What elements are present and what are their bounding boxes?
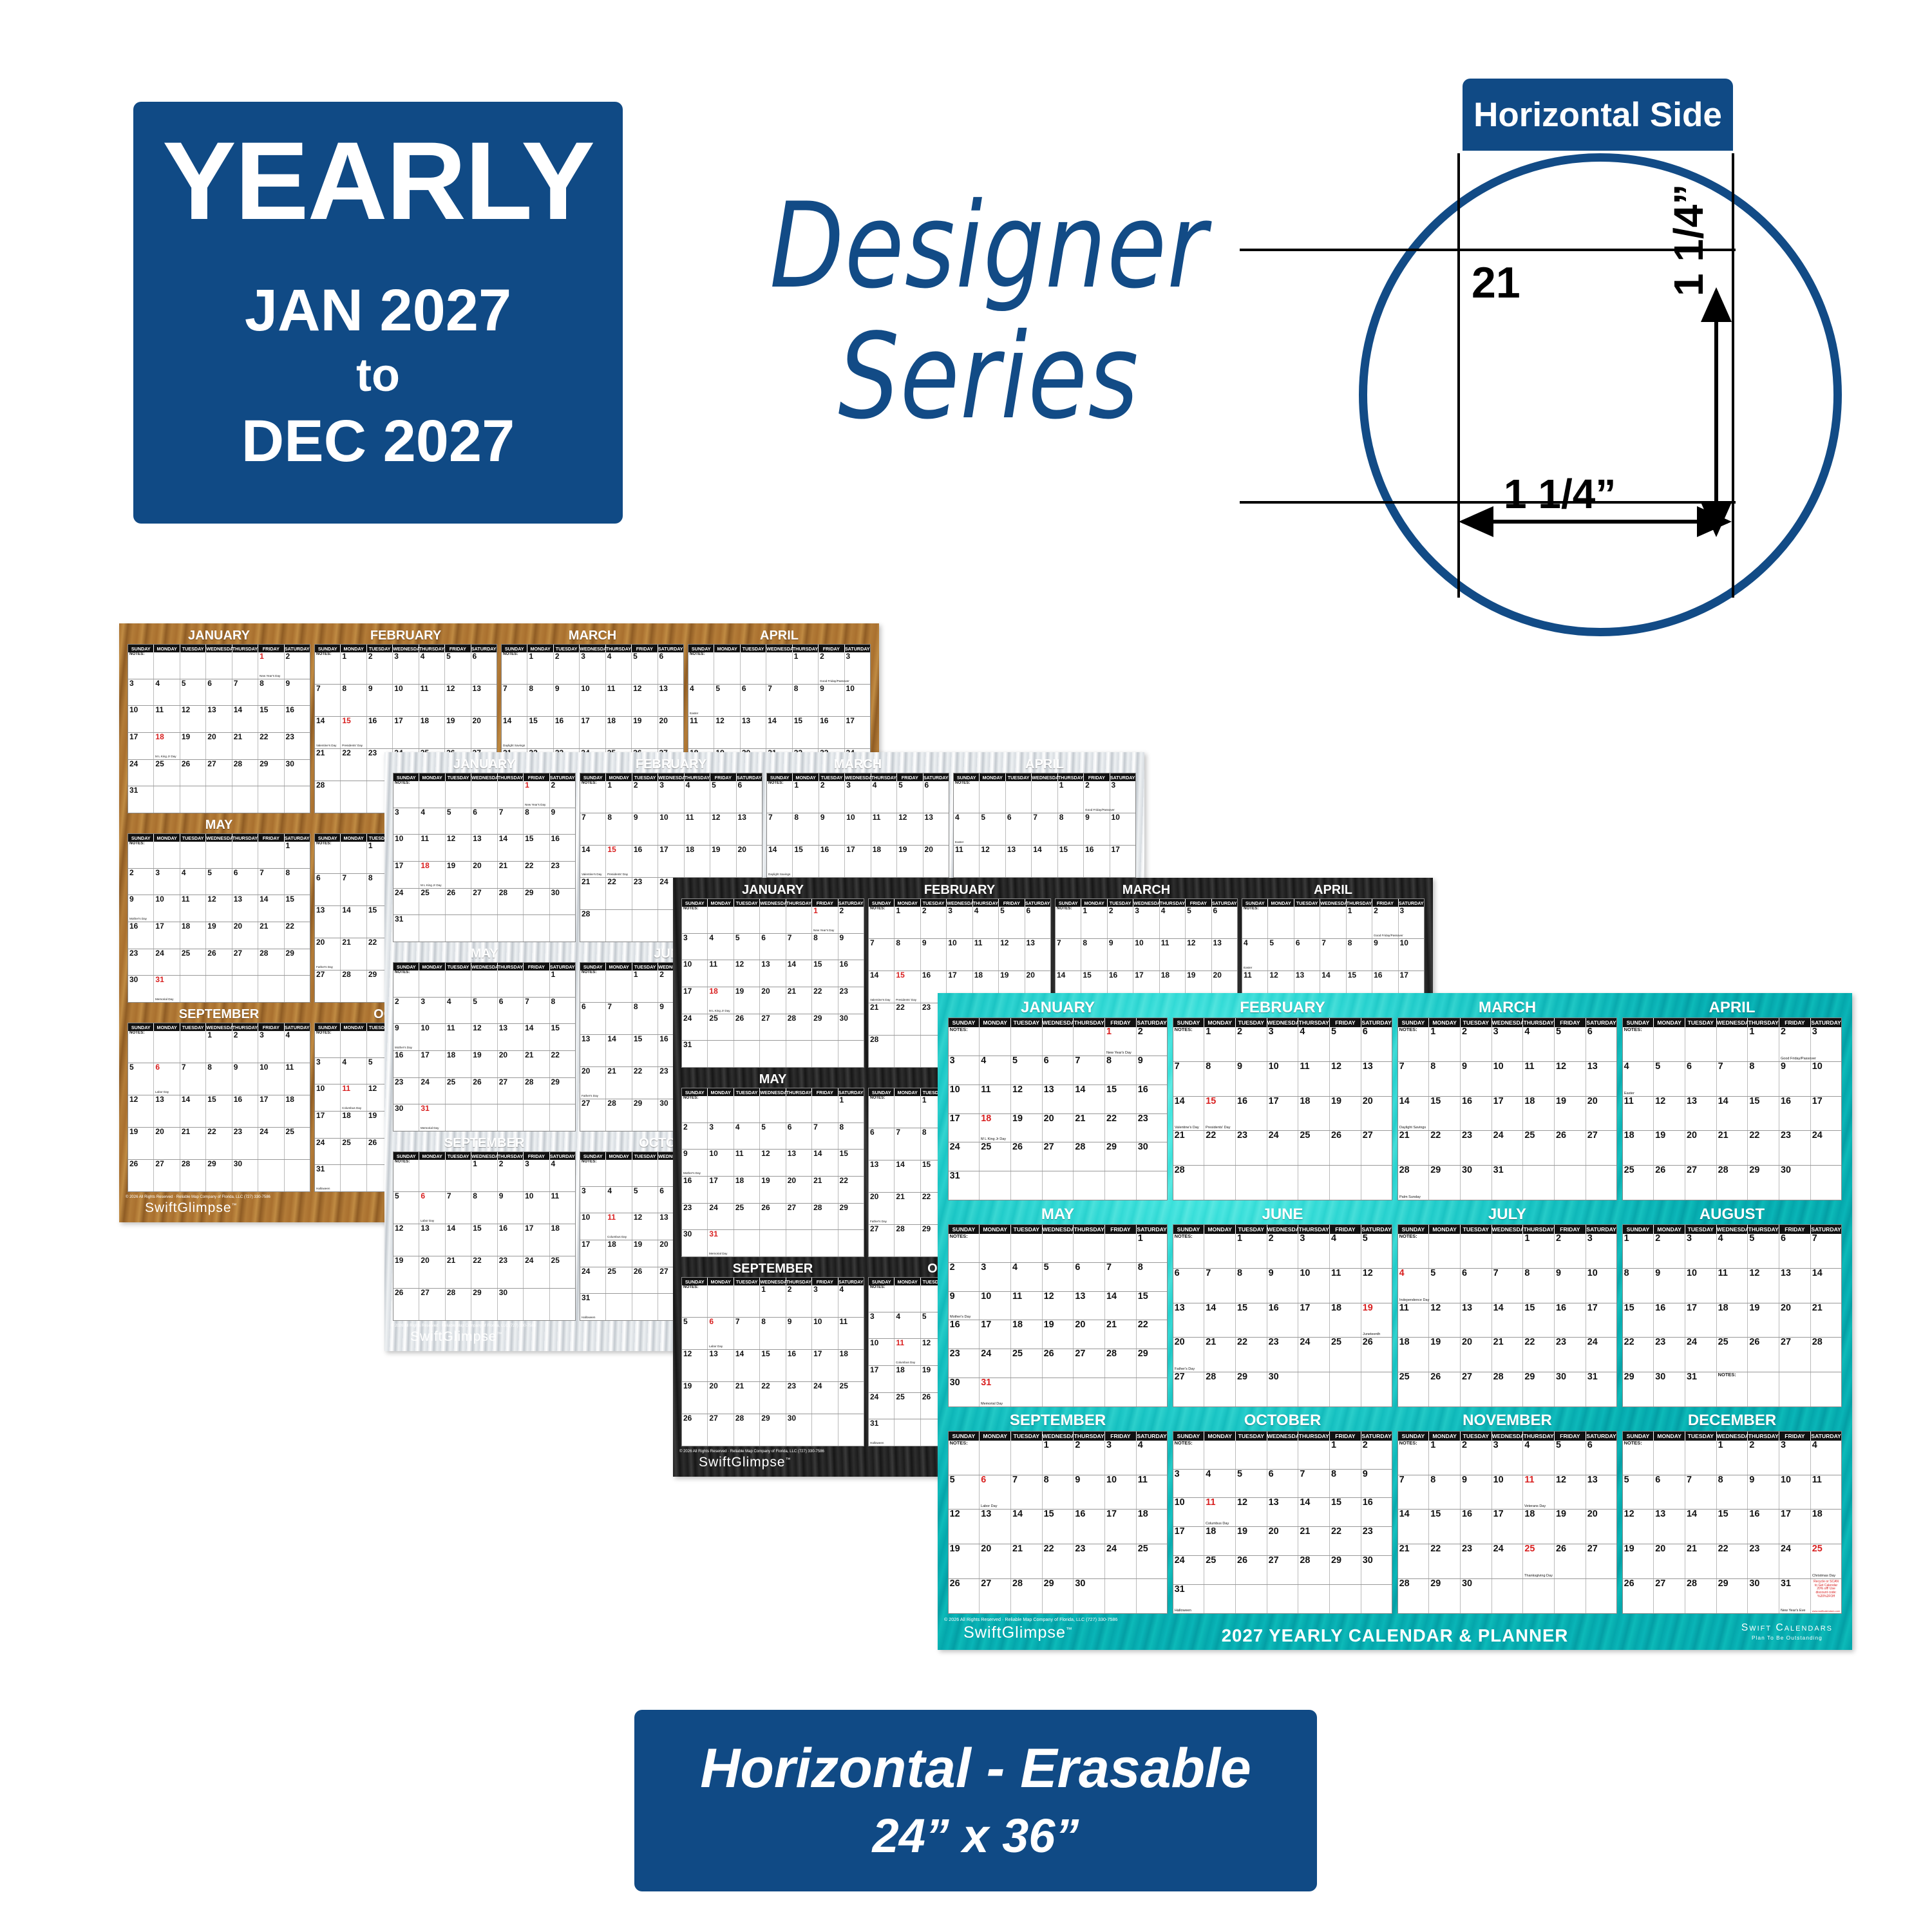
empty-cell[interactable]	[1586, 1579, 1617, 1613]
day-cell[interactable]: 21	[895, 1193, 920, 1224]
day-cell[interactable]: 30	[1137, 1142, 1168, 1171]
day-cell[interactable]: 8	[285, 869, 310, 895]
day-cell[interactable]: 18	[1137, 1510, 1168, 1544]
day-cell[interactable]: 18	[1623, 1131, 1654, 1165]
day-cell[interactable]: 18	[1011, 1320, 1043, 1349]
day-cell[interactable]: 14	[524, 1024, 549, 1050]
empty-cell[interactable]	[895, 1285, 920, 1312]
empty-cell[interactable]	[1267, 1166, 1299, 1200]
day-cell[interactable]: 8	[550, 998, 575, 1024]
day-cell[interactable]: 11	[973, 939, 999, 971]
empty-cell[interactable]	[741, 652, 766, 684]
day-cell[interactable]: 9	[367, 685, 393, 716]
day-cell[interactable]: 16	[1074, 1510, 1105, 1544]
empty-cell[interactable]	[632, 1294, 658, 1320]
day-cell[interactable]: 6	[206, 679, 232, 706]
day-cell[interactable]: 5	[471, 998, 497, 1024]
empty-cell[interactable]	[232, 786, 258, 813]
day-cell[interactable]: 21	[258, 922, 284, 949]
day-cell[interactable]: 26	[682, 1414, 708, 1446]
day-cell[interactable]: 12	[1186, 939, 1211, 971]
day-cell[interactable]: 24	[1492, 1131, 1524, 1165]
empty-cell[interactable]	[1461, 1234, 1492, 1268]
empty-cell[interactable]	[285, 786, 310, 813]
day-cell[interactable]: 25	[980, 1142, 1011, 1171]
day-cell[interactable]: 21	[869, 1003, 895, 1035]
day-cell[interactable]: 26	[180, 760, 206, 786]
day-cell[interactable]: 14Valentine's Day	[1173, 1097, 1205, 1131]
empty-cell[interactable]	[766, 652, 792, 684]
empty-cell[interactable]: NOTES:	[315, 1031, 341, 1057]
day-cell[interactable]: 3	[1811, 1027, 1842, 1061]
day-cell[interactable]: 4	[1330, 1234, 1361, 1268]
day-cell[interactable]: 30	[682, 1230, 708, 1256]
empty-cell[interactable]: NOTES:	[1173, 1234, 1205, 1268]
day-cell[interactable]: 9	[786, 1318, 812, 1349]
day-cell[interactable]: 23	[1461, 1544, 1492, 1578]
day-cell[interactable]: 15	[838, 1150, 864, 1176]
day-cell[interactable]: 18	[419, 717, 445, 748]
empty-cell[interactable]: NOTES:	[1623, 1441, 1654, 1475]
day-cell[interactable]: 23	[550, 862, 575, 888]
day-cell[interactable]: 28	[606, 1099, 632, 1131]
day-cell[interactable]: 12	[632, 685, 658, 716]
empty-cell[interactable]	[1011, 1171, 1043, 1200]
day-cell[interactable]: 1	[1236, 1234, 1267, 1268]
day-cell[interactable]: 21	[446, 1256, 471, 1288]
empty-cell[interactable]: NOTES:	[128, 1031, 154, 1063]
day-cell[interactable]: 15	[793, 717, 819, 748]
empty-cell[interactable]	[1492, 1579, 1524, 1613]
day-cell[interactable]: 19	[446, 862, 471, 888]
day-cell[interactable]: 22	[341, 749, 366, 781]
day-cell[interactable]: 20	[471, 862, 497, 888]
day-cell[interactable]: 11	[688, 717, 714, 748]
month-block-july[interactable]: JULYSUNDAYMONDAYTUESDAYWEDNESDAYTHURSDAY…	[1397, 1205, 1618, 1407]
day-cell[interactable]: 5	[980, 813, 1005, 845]
day-cell[interactable]: 19	[1011, 1114, 1043, 1142]
day-cell[interactable]: 3	[1110, 781, 1135, 813]
month-block-may[interactable]: MAYSUNDAYMONDAYTUESDAYWEDNESDAYTHURSDAYF…	[128, 817, 310, 1003]
day-cell[interactable]: 6	[1025, 907, 1050, 938]
day-cell[interactable]: 30	[285, 760, 310, 786]
month-block-may[interactable]: MAYSUNDAYMONDAYTUESDAYWEDNESDAYTHURSDAYF…	[948, 1205, 1168, 1407]
day-cell[interactable]: 11	[180, 895, 206, 922]
day-cell[interactable]: 30	[1461, 1579, 1492, 1613]
day-cell[interactable]: 1	[1623, 1234, 1654, 1268]
empty-cell[interactable]	[471, 1104, 497, 1131]
day-cell[interactable]: 1	[1523, 1234, 1555, 1268]
empty-cell[interactable]	[1043, 1171, 1074, 1200]
day-cell[interactable]: 15	[1429, 1510, 1461, 1544]
empty-cell[interactable]: NOTES:	[1398, 1027, 1430, 1061]
day-cell[interactable]: 1	[1330, 1441, 1361, 1469]
day-cell[interactable]: 10	[1586, 1269, 1617, 1303]
day-cell[interactable]: 6	[232, 869, 258, 895]
day-cell[interactable]: 3	[419, 998, 445, 1024]
day-cell[interactable]: 16	[554, 717, 580, 748]
day-cell[interactable]: 21	[498, 862, 524, 888]
day-cell[interactable]: 9Mother's Day	[949, 1292, 980, 1320]
day-cell[interactable]: 23	[632, 878, 658, 909]
day-cell[interactable]: 12	[1429, 1303, 1461, 1338]
day-cell[interactable]: 7	[502, 685, 527, 716]
day-cell[interactable]: 11	[550, 1192, 575, 1224]
day-cell[interactable]: 15	[524, 835, 549, 861]
day-cell[interactable]: 1	[1081, 907, 1107, 938]
day-cell[interactable]: 3	[1298, 1234, 1330, 1268]
day-cell[interactable]: 18	[1523, 1510, 1555, 1544]
empty-cell[interactable]: NOTES:	[1173, 1441, 1205, 1469]
day-cell[interactable]: 15	[550, 1024, 575, 1050]
day-cell[interactable]: 24	[419, 1078, 445, 1104]
day-cell[interactable]: 21	[315, 749, 341, 781]
day-cell[interactable]: 2	[393, 998, 419, 1024]
day-cell[interactable]: 17	[869, 1366, 895, 1392]
day-cell[interactable]: 23	[498, 1256, 524, 1288]
day-cell[interactable]: 29	[1717, 1579, 1748, 1613]
day-cell[interactable]: 9	[1267, 1269, 1299, 1303]
empty-cell[interactable]	[1204, 1441, 1236, 1469]
day-cell[interactable]: 23	[1461, 1131, 1492, 1165]
day-cell[interactable]: 24	[1586, 1338, 1617, 1372]
day-cell[interactable]: 10	[580, 685, 605, 716]
day-cell[interactable]: 6	[1685, 1062, 1717, 1096]
day-cell[interactable]: 28	[341, 971, 366, 1002]
empty-cell[interactable]	[1105, 1171, 1137, 1200]
empty-cell[interactable]	[1811, 1166, 1842, 1200]
day-cell[interactable]: 18M L King Jr Day	[980, 1114, 1011, 1142]
day-cell[interactable]: 21	[734, 1382, 760, 1414]
empty-cell[interactable]	[734, 1230, 760, 1256]
empty-cell[interactable]	[232, 652, 258, 679]
day-cell[interactable]: 10	[580, 1213, 606, 1240]
day-cell[interactable]: 6	[471, 652, 497, 684]
day-cell[interactable]: 1	[838, 1096, 864, 1122]
day-cell[interactable]: 17	[845, 846, 871, 877]
day-cell[interactable]: 3	[315, 1058, 341, 1084]
day-cell[interactable]: 4	[285, 1031, 310, 1063]
day-cell[interactable]: 16	[232, 1095, 258, 1127]
day-cell[interactable]: 15	[527, 717, 553, 748]
day-cell[interactable]: 14	[1074, 1085, 1105, 1113]
day-cell[interactable]: 13	[498, 1024, 524, 1050]
day-cell[interactable]: 11	[871, 813, 897, 845]
empty-cell[interactable]	[498, 971, 524, 997]
day-cell[interactable]: 4	[180, 869, 206, 895]
empty-cell[interactable]	[1294, 907, 1320, 938]
day-cell[interactable]: 15	[1717, 1510, 1748, 1544]
day-cell[interactable]: 20Father's Day	[1173, 1338, 1205, 1372]
day-cell[interactable]: 22	[1236, 1338, 1267, 1372]
day-cell[interactable]: 19	[471, 1051, 497, 1077]
day-cell[interactable]: 11	[1623, 1097, 1654, 1131]
day-cell[interactable]: 24	[1267, 1131, 1299, 1165]
day-cell[interactable]: 7	[1298, 1470, 1330, 1498]
day-cell[interactable]: 20	[498, 1051, 524, 1077]
empty-cell[interactable]	[258, 786, 284, 813]
day-cell[interactable]: 26	[1429, 1372, 1461, 1406]
day-cell[interactable]: 20	[658, 717, 683, 748]
day-cell[interactable]: 1	[793, 652, 819, 684]
day-cell[interactable]: 25	[1011, 1349, 1043, 1378]
day-cell[interactable]: 15Presidents' Day	[1204, 1097, 1236, 1131]
day-cell[interactable]: 16	[1748, 1510, 1779, 1544]
empty-cell[interactable]	[1137, 1171, 1168, 1200]
day-cell[interactable]: 15	[258, 706, 284, 732]
day-cell[interactable]: 31Memorial Day	[419, 1104, 445, 1131]
empty-cell[interactable]	[550, 1289, 575, 1320]
day-cell[interactable]: 13	[1025, 939, 1050, 971]
day-cell[interactable]: 19	[1043, 1320, 1074, 1349]
empty-cell[interactable]	[446, 781, 471, 808]
day-cell[interactable]: 4	[550, 1160, 575, 1191]
day-cell[interactable]: 16	[682, 1177, 708, 1203]
day-cell[interactable]: 7	[767, 813, 793, 845]
day-cell[interactable]: 18M L King Jr Day	[419, 862, 445, 888]
day-cell[interactable]: 21	[1398, 1544, 1430, 1578]
day-cell[interactable]: 9	[838, 934, 864, 960]
day-cell[interactable]: 13	[923, 813, 949, 845]
day-cell[interactable]: 5	[1555, 1027, 1586, 1061]
day-cell[interactable]: 23	[1074, 1544, 1105, 1578]
day-cell[interactable]: 19	[710, 846, 736, 877]
empty-cell[interactable]	[258, 1160, 284, 1191]
day-cell[interactable]: 13	[1586, 1062, 1617, 1096]
empty-cell[interactable]	[1105, 1378, 1137, 1406]
day-cell[interactable]: 7	[1173, 1062, 1205, 1096]
day-cell[interactable]: 14	[734, 1350, 760, 1381]
day-cell[interactable]: 17	[1173, 1527, 1205, 1555]
day-cell[interactable]: 11	[954, 846, 980, 877]
day-cell[interactable]: 12	[682, 1350, 708, 1381]
day-cell[interactable]: 19	[949, 1544, 980, 1578]
day-cell[interactable]: 27	[1267, 1556, 1299, 1584]
day-cell[interactable]: 24	[1492, 1544, 1524, 1578]
day-cell[interactable]: 8	[1347, 939, 1372, 971]
day-cell[interactable]: 29	[812, 1014, 838, 1041]
day-cell[interactable]: 11Veterans Day	[1523, 1475, 1555, 1510]
day-cell[interactable]: 3	[128, 679, 154, 706]
empty-cell[interactable]	[1330, 1372, 1361, 1406]
day-cell[interactable]: 11	[1330, 1269, 1361, 1303]
day-cell[interactable]: 2	[949, 1263, 980, 1291]
day-cell[interactable]: 10	[1298, 1269, 1330, 1303]
empty-cell[interactable]	[471, 971, 497, 997]
day-cell[interactable]: 24	[1685, 1338, 1717, 1372]
day-cell[interactable]: 27	[1779, 1338, 1811, 1372]
day-cell[interactable]: 14	[180, 1095, 206, 1127]
day-cell[interactable]: 4	[419, 652, 445, 684]
day-cell[interactable]: 8	[793, 685, 819, 716]
day-cell[interactable]: 14	[786, 960, 812, 987]
day-cell[interactable]: 6	[498, 998, 524, 1024]
day-cell[interactable]: 18	[1204, 1527, 1236, 1555]
day-cell[interactable]: 19	[206, 922, 232, 949]
day-cell[interactable]: 5	[1186, 907, 1211, 938]
day-cell[interactable]: 8	[1523, 1269, 1555, 1303]
empty-cell[interactable]	[550, 1104, 575, 1131]
day-cell[interactable]: 1	[206, 1031, 232, 1063]
day-cell[interactable]: 31Halloween	[580, 1294, 606, 1320]
day-cell[interactable]: 24	[258, 1128, 284, 1159]
day-cell[interactable]: 7	[1056, 939, 1081, 971]
day-cell[interactable]: 5	[1654, 1062, 1685, 1096]
day-cell[interactable]: 25	[708, 1014, 734, 1041]
day-cell[interactable]: 20	[1586, 1510, 1617, 1544]
empty-cell[interactable]: NOTES:	[580, 781, 606, 813]
day-cell[interactable]: 16	[838, 960, 864, 987]
day-cell[interactable]: 6	[923, 781, 949, 813]
day-cell[interactable]: 15	[632, 1035, 658, 1066]
empty-cell[interactable]	[1074, 1027, 1105, 1056]
day-cell[interactable]: 2	[554, 652, 580, 684]
day-cell[interactable]: 4	[1137, 1441, 1168, 1475]
day-cell[interactable]: 13	[658, 685, 683, 716]
day-cell[interactable]: 10	[708, 1150, 734, 1176]
day-cell[interactable]: 9	[819, 813, 845, 845]
day-cell[interactable]: 26	[1330, 1131, 1361, 1165]
day-cell[interactable]: 17	[1298, 1303, 1330, 1338]
day-cell[interactable]: 10	[258, 1063, 284, 1095]
day-cell[interactable]: 1New Year's Day	[258, 652, 284, 679]
day-cell[interactable]: 4	[1298, 1027, 1330, 1061]
day-cell[interactable]: 8	[1043, 1475, 1074, 1510]
empty-cell[interactable]	[285, 1160, 310, 1191]
empty-cell[interactable]	[1267, 1585, 1299, 1613]
day-cell[interactable]: 22	[1043, 1544, 1074, 1578]
day-cell[interactable]: 14Valentine's Day	[315, 717, 341, 748]
day-cell[interactable]: 25	[606, 1267, 632, 1294]
day-cell[interactable]: 29	[632, 1099, 658, 1131]
day-cell[interactable]: 16	[1461, 1510, 1492, 1544]
day-cell[interactable]: 2	[632, 781, 658, 813]
day-cell[interactable]: 20Father's Day	[315, 938, 341, 970]
day-cell[interactable]: 17	[258, 1095, 284, 1127]
day-cell[interactable]: 3	[1173, 1470, 1205, 1498]
day-cell[interactable]: 14	[1298, 1498, 1330, 1526]
empty-cell[interactable]	[446, 1160, 471, 1191]
empty-cell[interactable]	[471, 781, 497, 808]
day-cell[interactable]: 8	[206, 1063, 232, 1095]
day-cell[interactable]: 19	[734, 987, 760, 1014]
day-cell[interactable]: 2	[786, 1285, 812, 1317]
day-cell[interactable]: 26	[1623, 1579, 1654, 1613]
empty-cell[interactable]	[206, 786, 232, 813]
day-cell[interactable]: 17	[1492, 1097, 1524, 1131]
empty-cell[interactable]	[232, 976, 258, 1002]
empty-cell[interactable]	[1523, 1166, 1555, 1200]
day-cell[interactable]: 1	[1429, 1027, 1461, 1061]
day-cell[interactable]: 28	[869, 1036, 895, 1067]
day-cell[interactable]: 10	[980, 1292, 1011, 1320]
day-cell[interactable]: 28	[1074, 1142, 1105, 1171]
day-cell[interactable]: 15Presidents' Day	[341, 717, 366, 748]
day-cell[interactable]: 21	[812, 1177, 838, 1203]
day-cell[interactable]: 13	[741, 717, 766, 748]
day-cell[interactable]: 4	[154, 679, 180, 706]
empty-cell[interactable]	[708, 1041, 734, 1067]
day-cell[interactable]: 2	[1654, 1234, 1685, 1268]
day-cell[interactable]: 15	[285, 895, 310, 922]
day-cell[interactable]: 26	[1748, 1338, 1779, 1372]
empty-cell[interactable]	[606, 971, 632, 1002]
day-cell[interactable]: 28	[258, 949, 284, 976]
empty-cell[interactable]	[341, 1165, 366, 1191]
empty-cell[interactable]	[498, 781, 524, 808]
day-cell[interactable]: 22	[206, 1128, 232, 1159]
day-cell[interactable]: 1	[606, 781, 632, 813]
day-cell[interactable]: 17	[154, 922, 180, 949]
day-cell[interactable]: 12	[714, 717, 740, 748]
day-cell[interactable]: 14	[1811, 1269, 1842, 1303]
day-cell[interactable]: 19	[1555, 1510, 1586, 1544]
day-cell[interactable]: 17	[419, 1051, 445, 1077]
day-cell[interactable]: 10	[1110, 813, 1135, 845]
empty-cell[interactable]	[812, 1230, 838, 1256]
day-cell[interactable]: 9Mother's Day	[128, 895, 154, 922]
day-cell[interactable]: 4	[1523, 1441, 1555, 1475]
day-cell[interactable]: 4	[1811, 1441, 1842, 1475]
empty-cell[interactable]	[258, 842, 284, 868]
empty-cell[interactable]: NOTES:	[869, 907, 895, 938]
day-cell[interactable]: 16	[367, 717, 393, 748]
empty-cell[interactable]: NOTES:	[1056, 907, 1081, 938]
day-cell[interactable]: 22	[1204, 1131, 1236, 1165]
empty-cell[interactable]: NOTES:	[502, 652, 527, 684]
day-cell[interactable]: 27	[580, 1099, 606, 1131]
day-cell[interactable]: 13	[737, 813, 762, 845]
day-cell[interactable]: 8	[606, 813, 632, 845]
day-cell[interactable]: 18	[446, 1051, 471, 1077]
day-cell[interactable]: 22	[1330, 1527, 1361, 1555]
day-cell[interactable]: 19	[180, 733, 206, 759]
month-block-january[interactable]: JANUARYSUNDAYMONDAYTUESDAYWEDNESDAYTHURS…	[681, 882, 864, 1068]
day-cell[interactable]: 7	[258, 869, 284, 895]
day-cell[interactable]: 10	[1267, 1062, 1299, 1096]
day-cell[interactable]: 30	[786, 1414, 812, 1446]
day-cell[interactable]: 18	[871, 846, 897, 877]
month-block-december[interactable]: DECEMBERSUNDAYMONDAYTUESDAYWEDNESDAYTHUR…	[1622, 1412, 1842, 1614]
day-cell[interactable]: 17	[845, 717, 870, 748]
day-cell[interactable]: 14	[812, 1150, 838, 1176]
day-cell[interactable]: 14	[1204, 1303, 1236, 1338]
empty-cell[interactable]	[760, 1041, 786, 1067]
day-cell[interactable]: 6	[741, 685, 766, 716]
empty-cell[interactable]	[446, 915, 471, 942]
day-cell[interactable]: 13	[980, 1510, 1011, 1544]
empty-cell[interactable]	[812, 1041, 838, 1067]
day-cell[interactable]: 16	[1779, 1097, 1811, 1131]
day-cell[interactable]: 10	[845, 813, 871, 845]
day-cell[interactable]: 9	[498, 1192, 524, 1224]
day-cell[interactable]: 15	[1043, 1510, 1074, 1544]
empty-cell[interactable]	[1330, 1166, 1361, 1200]
day-cell[interactable]: 20	[737, 846, 762, 877]
empty-cell[interactable]	[1006, 781, 1032, 813]
day-cell[interactable]: 8	[793, 813, 819, 845]
day-cell[interactable]: 19	[393, 1256, 419, 1288]
empty-cell[interactable]: NOTES:	[1717, 1372, 1748, 1406]
day-cell[interactable]: 20	[760, 987, 786, 1014]
day-cell[interactable]: 3	[580, 1187, 606, 1213]
day-cell[interactable]: 27	[1361, 1131, 1392, 1165]
empty-cell[interactable]	[760, 1096, 786, 1122]
day-cell[interactable]: 12	[1623, 1510, 1654, 1544]
day-cell[interactable]: 8	[1717, 1475, 1748, 1510]
day-cell[interactable]: 12	[1748, 1269, 1779, 1303]
empty-cell[interactable]: Recycle or SCAN to Get Calendar 20% off!…	[1811, 1579, 1842, 1613]
